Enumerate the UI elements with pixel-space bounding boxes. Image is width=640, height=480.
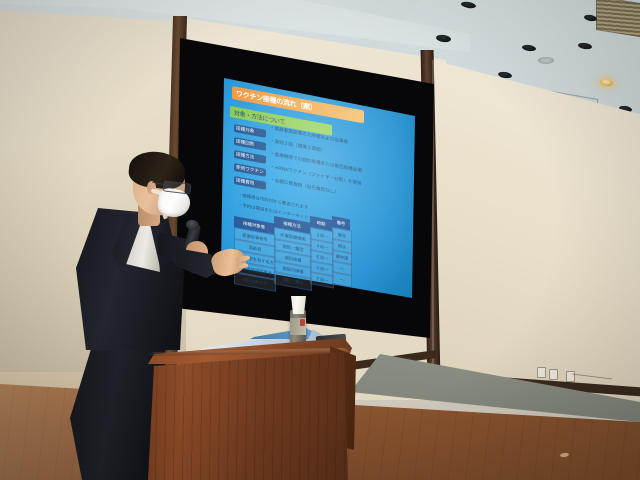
wall-outlet-3[interactable]	[566, 371, 575, 382]
speaker-finger-2	[236, 263, 248, 268]
water-bottle-logo-mark	[300, 319, 305, 326]
smoke-detector-icon	[538, 57, 554, 64]
wall-outlet-2[interactable]	[549, 369, 558, 380]
presentation-scene-photo: ワクチン接種の流れ（案） 対象・方法について 接種対象・高齢者施設等の入所者およ…	[0, 0, 640, 480]
podium	[148, 352, 348, 480]
slide-section-badge-5: 接種費用	[234, 176, 266, 190]
slide-section-badge-3: 接種方法	[234, 150, 266, 164]
wall-outlet-1[interactable]	[537, 367, 546, 378]
slide-section-badge-2: 接種回数	[234, 137, 266, 151]
slide-section-badge-1: 接種対象	[234, 124, 266, 138]
right-wall	[432, 52, 640, 412]
slide-section-badge-4: 使用ワクチン	[234, 163, 266, 177]
slide-table-cell: ―	[332, 271, 352, 288]
